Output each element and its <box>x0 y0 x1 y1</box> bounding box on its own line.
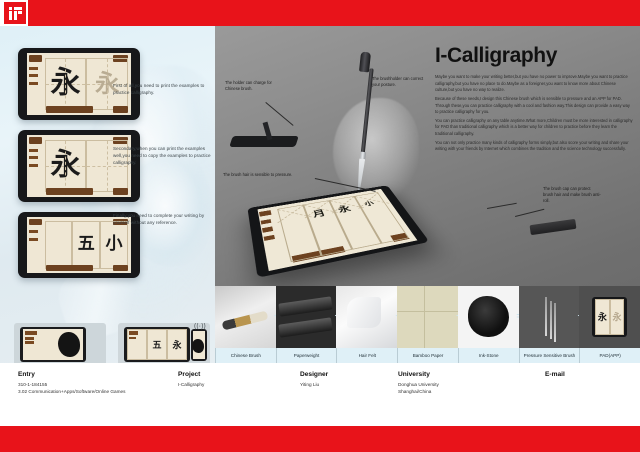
step-3-char: 五 <box>78 236 95 253</box>
if-logo <box>4 2 26 24</box>
brush-cap <box>530 219 577 235</box>
product-label: Chinese Brush <box>215 348 276 363</box>
callout-pressure: The brush hair is sensible to pressure. <box>223 172 343 178</box>
university-label: University <box>398 371 439 378</box>
dip-photo-pad <box>14 323 106 363</box>
university-location: Shanghai/China <box>398 388 439 395</box>
product-chinese-brush: + Chinese Brush <box>215 286 276 363</box>
description-paragraph: You can practice calligraphy on any tabl… <box>435 118 633 138</box>
callout-posture: The brushholder can correct your posture… <box>372 76 430 88</box>
step-3-text: Finally,you need to complete your writin… <box>113 212 211 226</box>
left-panel: 永 永 永 <box>0 26 215 363</box>
smartphone-mockup <box>191 329 207 361</box>
email-label: E-mail <box>545 371 565 378</box>
wifi-icon: ((·)) <box>194 323 206 332</box>
step-2-text: Secondary,when you can print the example… <box>113 145 211 166</box>
step-2-char: 永 <box>50 150 80 180</box>
product-pressure-sensitive-brush: + Pressure Sensitive Brush <box>519 286 580 363</box>
product-pad-app: 永 永 PAD(APP) <box>579 286 640 363</box>
entry-label: Entry <box>18 371 125 378</box>
operator-symbol: + <box>578 312 580 320</box>
product-label: Pressure Sensitive Brush <box>519 348 580 363</box>
entry-category: 3.02 Communication+Apps/Software/Online … <box>18 388 125 395</box>
leader-line <box>487 203 517 209</box>
product-equation-strip: + Chinese Brush + Paperweight + Hair Fel… <box>215 286 640 363</box>
leader-line <box>515 209 544 217</box>
pad-grid-char: 小 <box>362 198 376 207</box>
product-label: Paperweight <box>276 348 337 363</box>
bottom-red-bar <box>0 426 640 452</box>
presentation-board: 永 永 永 <box>0 0 640 452</box>
footer-project: Project I-Calligraphy <box>178 371 204 388</box>
product-label: Bamboo Paper <box>397 348 458 363</box>
product-label: Ink-Stone <box>458 348 519 363</box>
designer-value: Yiting Liu <box>300 381 328 388</box>
operator-symbol: + <box>335 312 337 320</box>
footer-university: University Donghua University Shanghai/C… <box>398 371 439 395</box>
step-3-char-ghost: 小 <box>106 236 123 253</box>
product-bamboo-paper: + Bamboo Paper <box>397 286 458 363</box>
ink-blob <box>58 332 80 357</box>
operator-symbol: = <box>516 312 518 321</box>
project-label: Project <box>178 371 204 378</box>
designer-label: Designer <box>300 371 328 378</box>
description-paragraph: You can not only practice many kinds of … <box>435 140 633 153</box>
page-title: I-Calligraphy <box>435 44 557 68</box>
step-1-char: 永 <box>50 68 80 98</box>
pad-app-char: 永 <box>595 299 610 335</box>
operator-symbol: + <box>395 312 397 320</box>
project-description: Maybe you want to make your writing bett… <box>435 74 633 155</box>
top-banner <box>0 0 640 26</box>
operator-symbol: + <box>456 312 458 320</box>
step-1-text: First of all,you need to print the examp… <box>113 82 211 96</box>
product-paperweight: + Paperweight <box>276 286 337 363</box>
dip-photo-phone: 五 永 ((·)) <box>118 323 210 363</box>
top-banner-red-bar <box>28 0 640 26</box>
footer: Entry 310-1-184155 3.02 Communication+Ap… <box>0 363 640 426</box>
operator-symbol: + <box>274 312 276 320</box>
entry-number: 310-1-184155 <box>18 381 125 388</box>
project-value: I-Calligraphy <box>178 381 204 388</box>
footer-entry: Entry 310-1-184155 3.02 Communication+Ap… <box>18 371 125 395</box>
description-paragraph: Because of these needs,I design this Chi… <box>435 96 633 116</box>
description-paragraph: Maybe you want to make your writing bett… <box>435 74 633 94</box>
callout-holder: The holder can charge for Chinese brush. <box>225 80 280 92</box>
pad-app-char-ghost: 永 <box>610 299 625 335</box>
product-ink-stone: = Ink-Stone <box>458 286 519 363</box>
brush-holder <box>231 122 297 148</box>
pad-grid-char: 永 <box>336 202 353 215</box>
product-hair-felt: + Hair Felt <box>336 286 397 363</box>
product-label: Hair Felt <box>336 348 397 363</box>
footer-designer: Designer Yiting Liu <box>300 371 328 388</box>
pad-app-mockup: 永 永 <box>592 297 627 337</box>
university-value: Donghua University <box>398 381 439 388</box>
tablet-perspective-mockup: 月 永 小 <box>247 185 429 278</box>
pad-grid-char: 月 <box>311 207 328 220</box>
footer-email: E-mail <box>545 371 565 381</box>
product-label: PAD(APP) <box>579 348 640 363</box>
callout-cap: The brush cap can protect brush hair and… <box>543 186 601 204</box>
